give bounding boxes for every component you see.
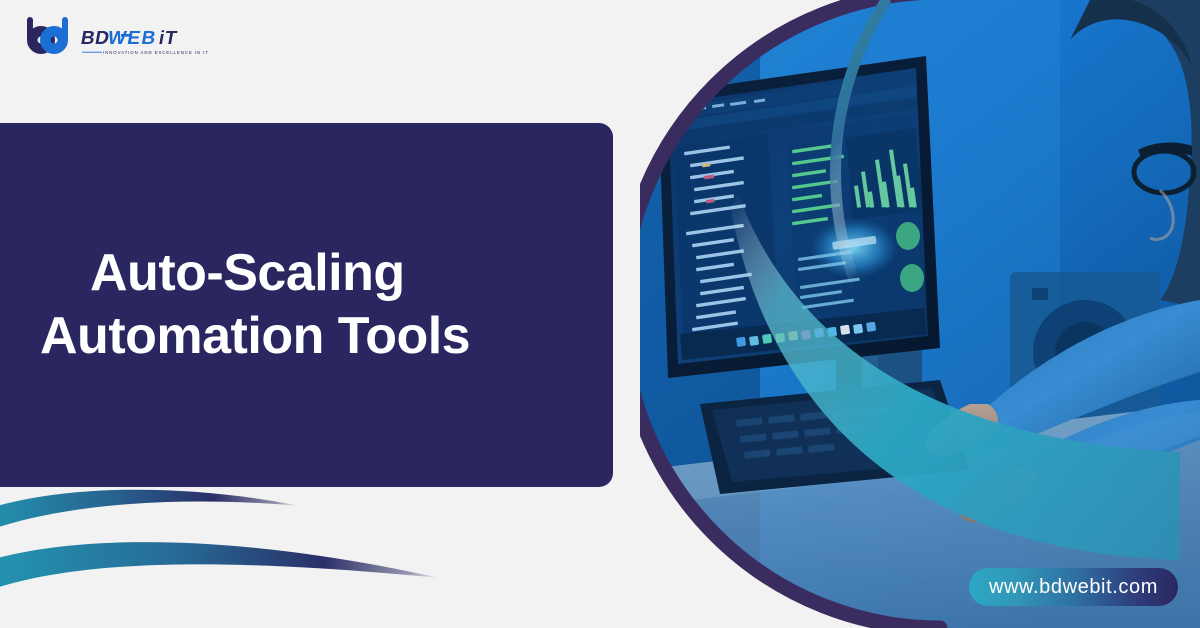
- brand-tagline: INNOVATION AND EXCELLENCE IN IT: [103, 50, 209, 55]
- headline-line-1: Auto-Scaling: [90, 244, 405, 302]
- title-card: Auto-ScalingAutomation Tools: [0, 123, 613, 487]
- wave-upper: [0, 490, 300, 530]
- website-url-badge[interactable]: www.bdwebit.com: [969, 568, 1178, 606]
- hero-image-circle: [640, 0, 1200, 628]
- brand-wordmark: BD WEB iT: [79, 28, 179, 49]
- brand-logo[interactable]: BD WEB iT INNOVATION AND EXCELLENCE IN I…: [20, 16, 220, 58]
- wordmark-web: WEB: [106, 28, 158, 49]
- page-title: Auto-ScalingAutomation Tools: [0, 242, 613, 368]
- website-url-text: www.bdwebit.com: [989, 576, 1158, 599]
- bottom-left-waves: [0, 468, 620, 628]
- banner-canvas: Auto-ScalingAutomation Tools: [0, 0, 1200, 628]
- wordmark-e-bar: [121, 34, 132, 37]
- bd-monogram-icon: [30, 20, 65, 51]
- headline-line-2: Automation Tools: [40, 305, 573, 368]
- wordmark-it: iT: [157, 28, 179, 49]
- wave-lower: [0, 542, 440, 590]
